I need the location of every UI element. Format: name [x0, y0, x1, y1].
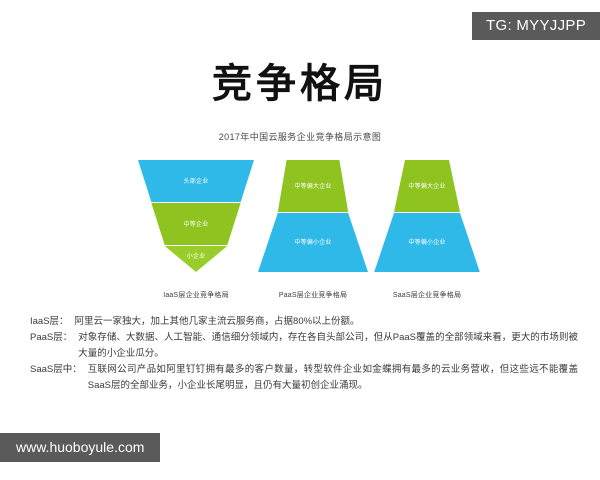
paragraph-paas-body: 对象存储、大数据、人工智能、通信细分领域内，存在各自头部公司，但从PaaS覆盖的… — [78, 330, 578, 362]
paas-band-top: 中等偏大企业 — [258, 160, 368, 212]
iaas-band-bottom-label: 小企业 — [187, 251, 206, 260]
tg-badge: TG: MYYJJPP — [472, 12, 600, 40]
paas-band-bottom-label: 中等偏小企业 — [294, 237, 331, 246]
paragraph-paas: PaaS层： 对象存储、大数据、人工智能、通信细分领域内，存在各自头部公司，但从… — [30, 330, 578, 362]
paas-caption: PaaS层企业竞争格局 — [258, 290, 368, 300]
paragraph-iaas-label: IaaS层： — [30, 314, 75, 330]
competition-diagram: 头部企业 中等企业 小企业 IaaS层企业竞争格局 中等偏大企业 中等偏小企业 … — [0, 160, 600, 300]
saas-band-top: 中等偏大企业 — [372, 160, 482, 212]
paragraph-saas: SaaS层中： 互联网公司产品如阿里钉钉拥有最多的客户数量，转型软件企业如金蝶拥… — [30, 362, 578, 394]
figure-saas-shapes: 中等偏大企业 中等偏小企业 — [372, 160, 482, 272]
figure-paas: 中等偏大企业 中等偏小企业 PaaS层企业竞争格局 — [258, 160, 368, 300]
paragraph-saas-label: SaaS层中： — [30, 362, 88, 378]
saas-caption: SaaS层企业竞争格局 — [372, 290, 482, 300]
page-subtitle: 2017年中国云服务企业竞争格局示意图 — [0, 130, 600, 143]
paragraph-iaas-body: 阿里云一家独大，加上其他几家主流云服务商，占据80%以上份额。 — [75, 314, 578, 330]
iaas-band-top: 头部企业 — [138, 160, 254, 202]
iaas-band-top-label: 头部企业 — [184, 176, 209, 185]
iaas-band-middle: 中等企业 — [138, 203, 254, 245]
explanation-text: IaaS层： 阿里云一家独大，加上其他几家主流云服务商，占据80%以上份额。 P… — [30, 314, 578, 394]
figure-saas: 中等偏大企业 中等偏小企业 SaaS层企业竞争格局 — [372, 160, 482, 300]
figure-iaas: 头部企业 中等企业 小企业 IaaS层企业竞争格局 — [138, 160, 254, 300]
iaas-band-bottom: 小企业 — [138, 246, 254, 272]
page-title: 竞争格局 — [0, 62, 600, 106]
site-watermark: www.huoboyule.com — [0, 433, 160, 462]
iaas-caption: IaaS层企业竞争格局 — [138, 290, 254, 300]
paragraph-paas-label: PaaS层： — [30, 330, 78, 346]
paragraph-iaas: IaaS层： 阿里云一家独大，加上其他几家主流云服务商，占据80%以上份额。 — [30, 314, 578, 330]
paragraph-saas-body: 互联网公司产品如阿里钉钉拥有最多的客户数量，转型软件企业如金蝶拥有最多的云业务营… — [88, 362, 578, 394]
iaas-band-middle-label: 中等企业 — [184, 219, 209, 228]
saas-band-top-label: 中等偏大企业 — [408, 181, 445, 190]
figure-paas-shapes: 中等偏大企业 中等偏小企业 — [258, 160, 368, 272]
saas-band-bottom-label: 中等偏小企业 — [408, 237, 445, 246]
paas-band-bottom: 中等偏小企业 — [258, 213, 368, 272]
figure-iaas-shapes: 头部企业 中等企业 小企业 — [138, 160, 254, 272]
paas-band-top-label: 中等偏大企业 — [294, 181, 331, 190]
saas-band-bottom: 中等偏小企业 — [372, 213, 482, 272]
